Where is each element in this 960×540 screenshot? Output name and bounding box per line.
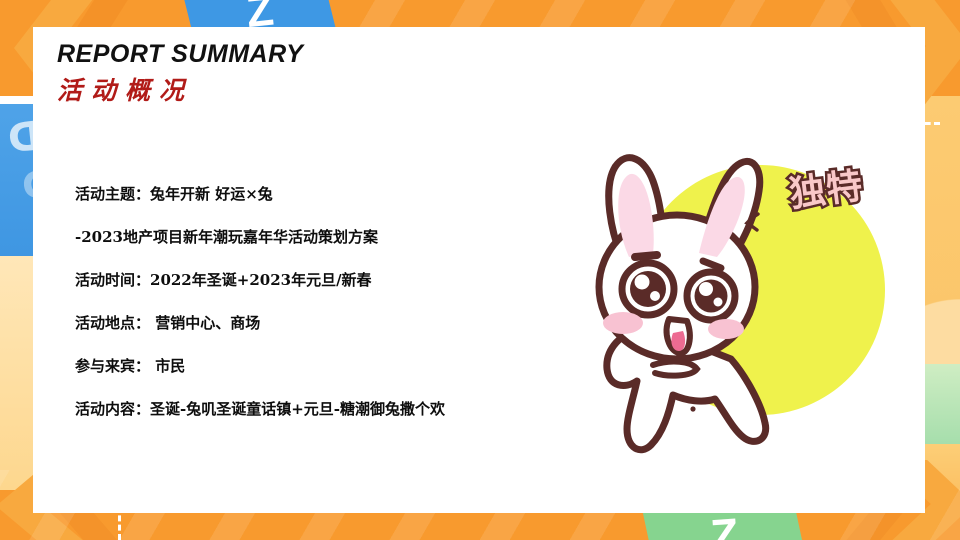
rabbit-blush-left	[603, 312, 643, 334]
page-title-cn: 活动概况	[57, 71, 303, 107]
summary-list: 活动主题：兔年开新 好运×兔 -2023地产项目新年潮玩嘉年华活动策划方案 活动…	[75, 173, 595, 431]
summary-line: 参与来宾： 市民	[75, 345, 595, 388]
summary-line: 活动内容：圣诞-兔叽圣诞童话镇+元旦-糖潮御兔撒个欢	[75, 388, 595, 431]
badge-unique-label: 独特	[786, 157, 866, 218]
page-title-en: REPORT SUMMARY	[57, 40, 303, 69]
summary-line: 活动地点： 营销中心、商场	[75, 302, 595, 345]
slide-canvas: Z Z ꓷ ꓷ ꓷ REPORT SUMMARY 活动概况 活动主题：兔年开新 …	[0, 0, 960, 540]
rabbit-eye-left	[622, 263, 674, 315]
content-card: REPORT SUMMARY 活动概况 活动主题：兔年开新 好运×兔 -2023…	[33, 27, 925, 513]
rabbit-blush-right	[708, 319, 744, 339]
rabbit-eye-right	[687, 272, 735, 320]
summary-line: 活动时间：2022年圣诞+2023年元旦/新春	[75, 259, 595, 302]
summary-line: 活动主题：兔年开新 好运×兔	[75, 173, 595, 216]
mascot-illustration: 独特	[593, 123, 933, 473]
summary-line: -2023地产项目新年潮玩嘉年华活动策划方案	[75, 216, 595, 259]
sparkle-icon	[744, 212, 762, 232]
page-title-group: REPORT SUMMARY 活动概况	[57, 40, 303, 107]
